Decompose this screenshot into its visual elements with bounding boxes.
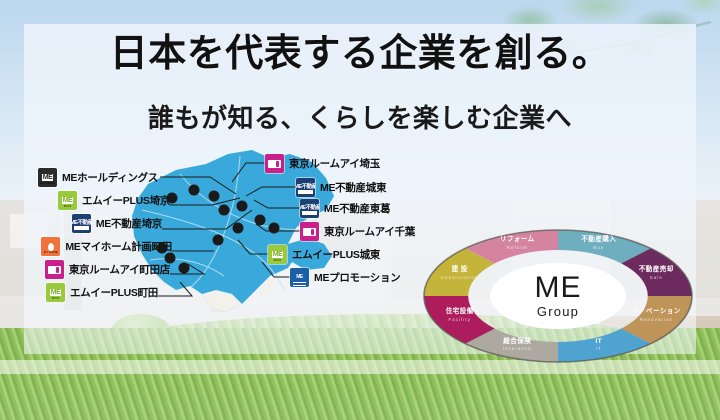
company-label-text: MEマイホーム計画町田 bbox=[65, 239, 172, 254]
company-label-left[interactable]: MEPLUSエムイーPLUS埼京 bbox=[58, 191, 170, 210]
water-drop-icon bbox=[48, 243, 54, 251]
logo-mark-subtext: PLUS bbox=[46, 298, 65, 301]
me-myhome-logo-icon: MY HOME bbox=[41, 237, 60, 256]
company-label-text: MEプロモーション bbox=[314, 270, 400, 285]
logo-mark-subtext: MY HOME bbox=[41, 252, 60, 255]
me-logo-text: ME bbox=[535, 273, 582, 303]
company-label-right[interactable]: ME不動産ME不動産城東 bbox=[296, 178, 386, 197]
me-holdings-logo-icon: MEHOLDINGS bbox=[38, 168, 57, 187]
company-label-text: MEホールディングス bbox=[62, 170, 158, 185]
company-label-right[interactable]: 東京ルームアイ埼玉 bbox=[265, 154, 380, 173]
logo-mark-subtext: PLUS bbox=[268, 260, 287, 263]
logo-mark-text: ME bbox=[62, 197, 74, 204]
company-label-text: エムイーPLUS城東 bbox=[292, 247, 380, 262]
company-label-right[interactable]: 東京ルームアイ千葉 bbox=[300, 222, 415, 241]
page-title: 日本を代表する企業を創る。 bbox=[0, 34, 720, 76]
company-label-left[interactable]: MEHOLDINGSMEホールディングス bbox=[38, 168, 158, 187]
company-label-left[interactable]: 東京ルームアイ町田店 bbox=[45, 260, 170, 279]
logo-mark-text: ME不動産 bbox=[72, 221, 91, 227]
me-promotion-logo-icon: ME bbox=[290, 268, 309, 287]
company-label-right[interactable]: MEPLUSエムイーPLUS城東 bbox=[268, 245, 380, 264]
logo-mark-text: ME bbox=[42, 174, 54, 181]
me-plus-logo-icon: MEPLUS bbox=[268, 245, 287, 264]
hero-banner: 日本を代表する企業を創る。 誰もが知る、くらしを楽しむ企業へ bbox=[0, 0, 720, 420]
me-fudosan-logo-icon: ME不動産 bbox=[300, 199, 319, 218]
me-fudosan-logo-icon: ME不動産 bbox=[72, 214, 91, 233]
company-label-text: 東京ルームアイ町田店 bbox=[69, 262, 170, 277]
company-label-left[interactable]: MEPLUSエムイーPLUS町田 bbox=[46, 283, 158, 302]
tokyo-roomeye-logo-icon bbox=[265, 154, 284, 173]
company-label-text: ME不動産埼京 bbox=[96, 216, 162, 231]
tokyo-roomeye-logo-icon bbox=[45, 260, 64, 279]
me-group-business-wheel: 不動産購入Buy不動産売却SaleリノベーションRenovationITIT総合… bbox=[422, 228, 694, 364]
page-subtitle: 誰もが知る、くらしを楽しむ企業へ bbox=[0, 98, 720, 135]
logo-mark-subtext: HOLDINGS bbox=[38, 183, 57, 186]
logo-mark-text: ME bbox=[272, 251, 284, 258]
logo-mark-text: ME不動産 bbox=[300, 206, 319, 212]
logo-mark-text: ME不動産 bbox=[296, 185, 315, 191]
logo-mark-text: ME bbox=[50, 289, 62, 296]
logo-mark-subtext: PLUS bbox=[58, 206, 77, 209]
logo-mark-text: ME bbox=[296, 275, 303, 280]
company-label-right[interactable]: MEMEプロモーション bbox=[290, 268, 400, 287]
company-label-text: ME不動産城東 bbox=[320, 180, 386, 195]
company-label-text: エムイーPLUS埼京 bbox=[82, 193, 170, 208]
me-group-center-logo: ME Group bbox=[490, 263, 626, 329]
group-logo-text: Group bbox=[537, 304, 579, 319]
me-plus-logo-icon: MEPLUS bbox=[46, 283, 65, 302]
company-label-text: エムイーPLUS町田 bbox=[70, 285, 158, 300]
company-label-right[interactable]: ME不動産ME不動産東葛 bbox=[300, 199, 390, 218]
company-label-text: 東京ルームアイ千葉 bbox=[324, 224, 415, 239]
tokyo-roomeye-logo-icon bbox=[300, 222, 319, 241]
company-label-text: ME不動産東葛 bbox=[324, 201, 390, 216]
company-label-text: 東京ルームアイ埼玉 bbox=[289, 156, 380, 171]
company-label-left[interactable]: ME不動産ME不動産埼京 bbox=[72, 214, 162, 233]
company-label-left[interactable]: MY HOMEMEマイホーム計画町田 bbox=[41, 237, 172, 256]
me-fudosan-logo-icon: ME不動産 bbox=[296, 178, 315, 197]
me-plus-logo-icon: MEPLUS bbox=[58, 191, 77, 210]
